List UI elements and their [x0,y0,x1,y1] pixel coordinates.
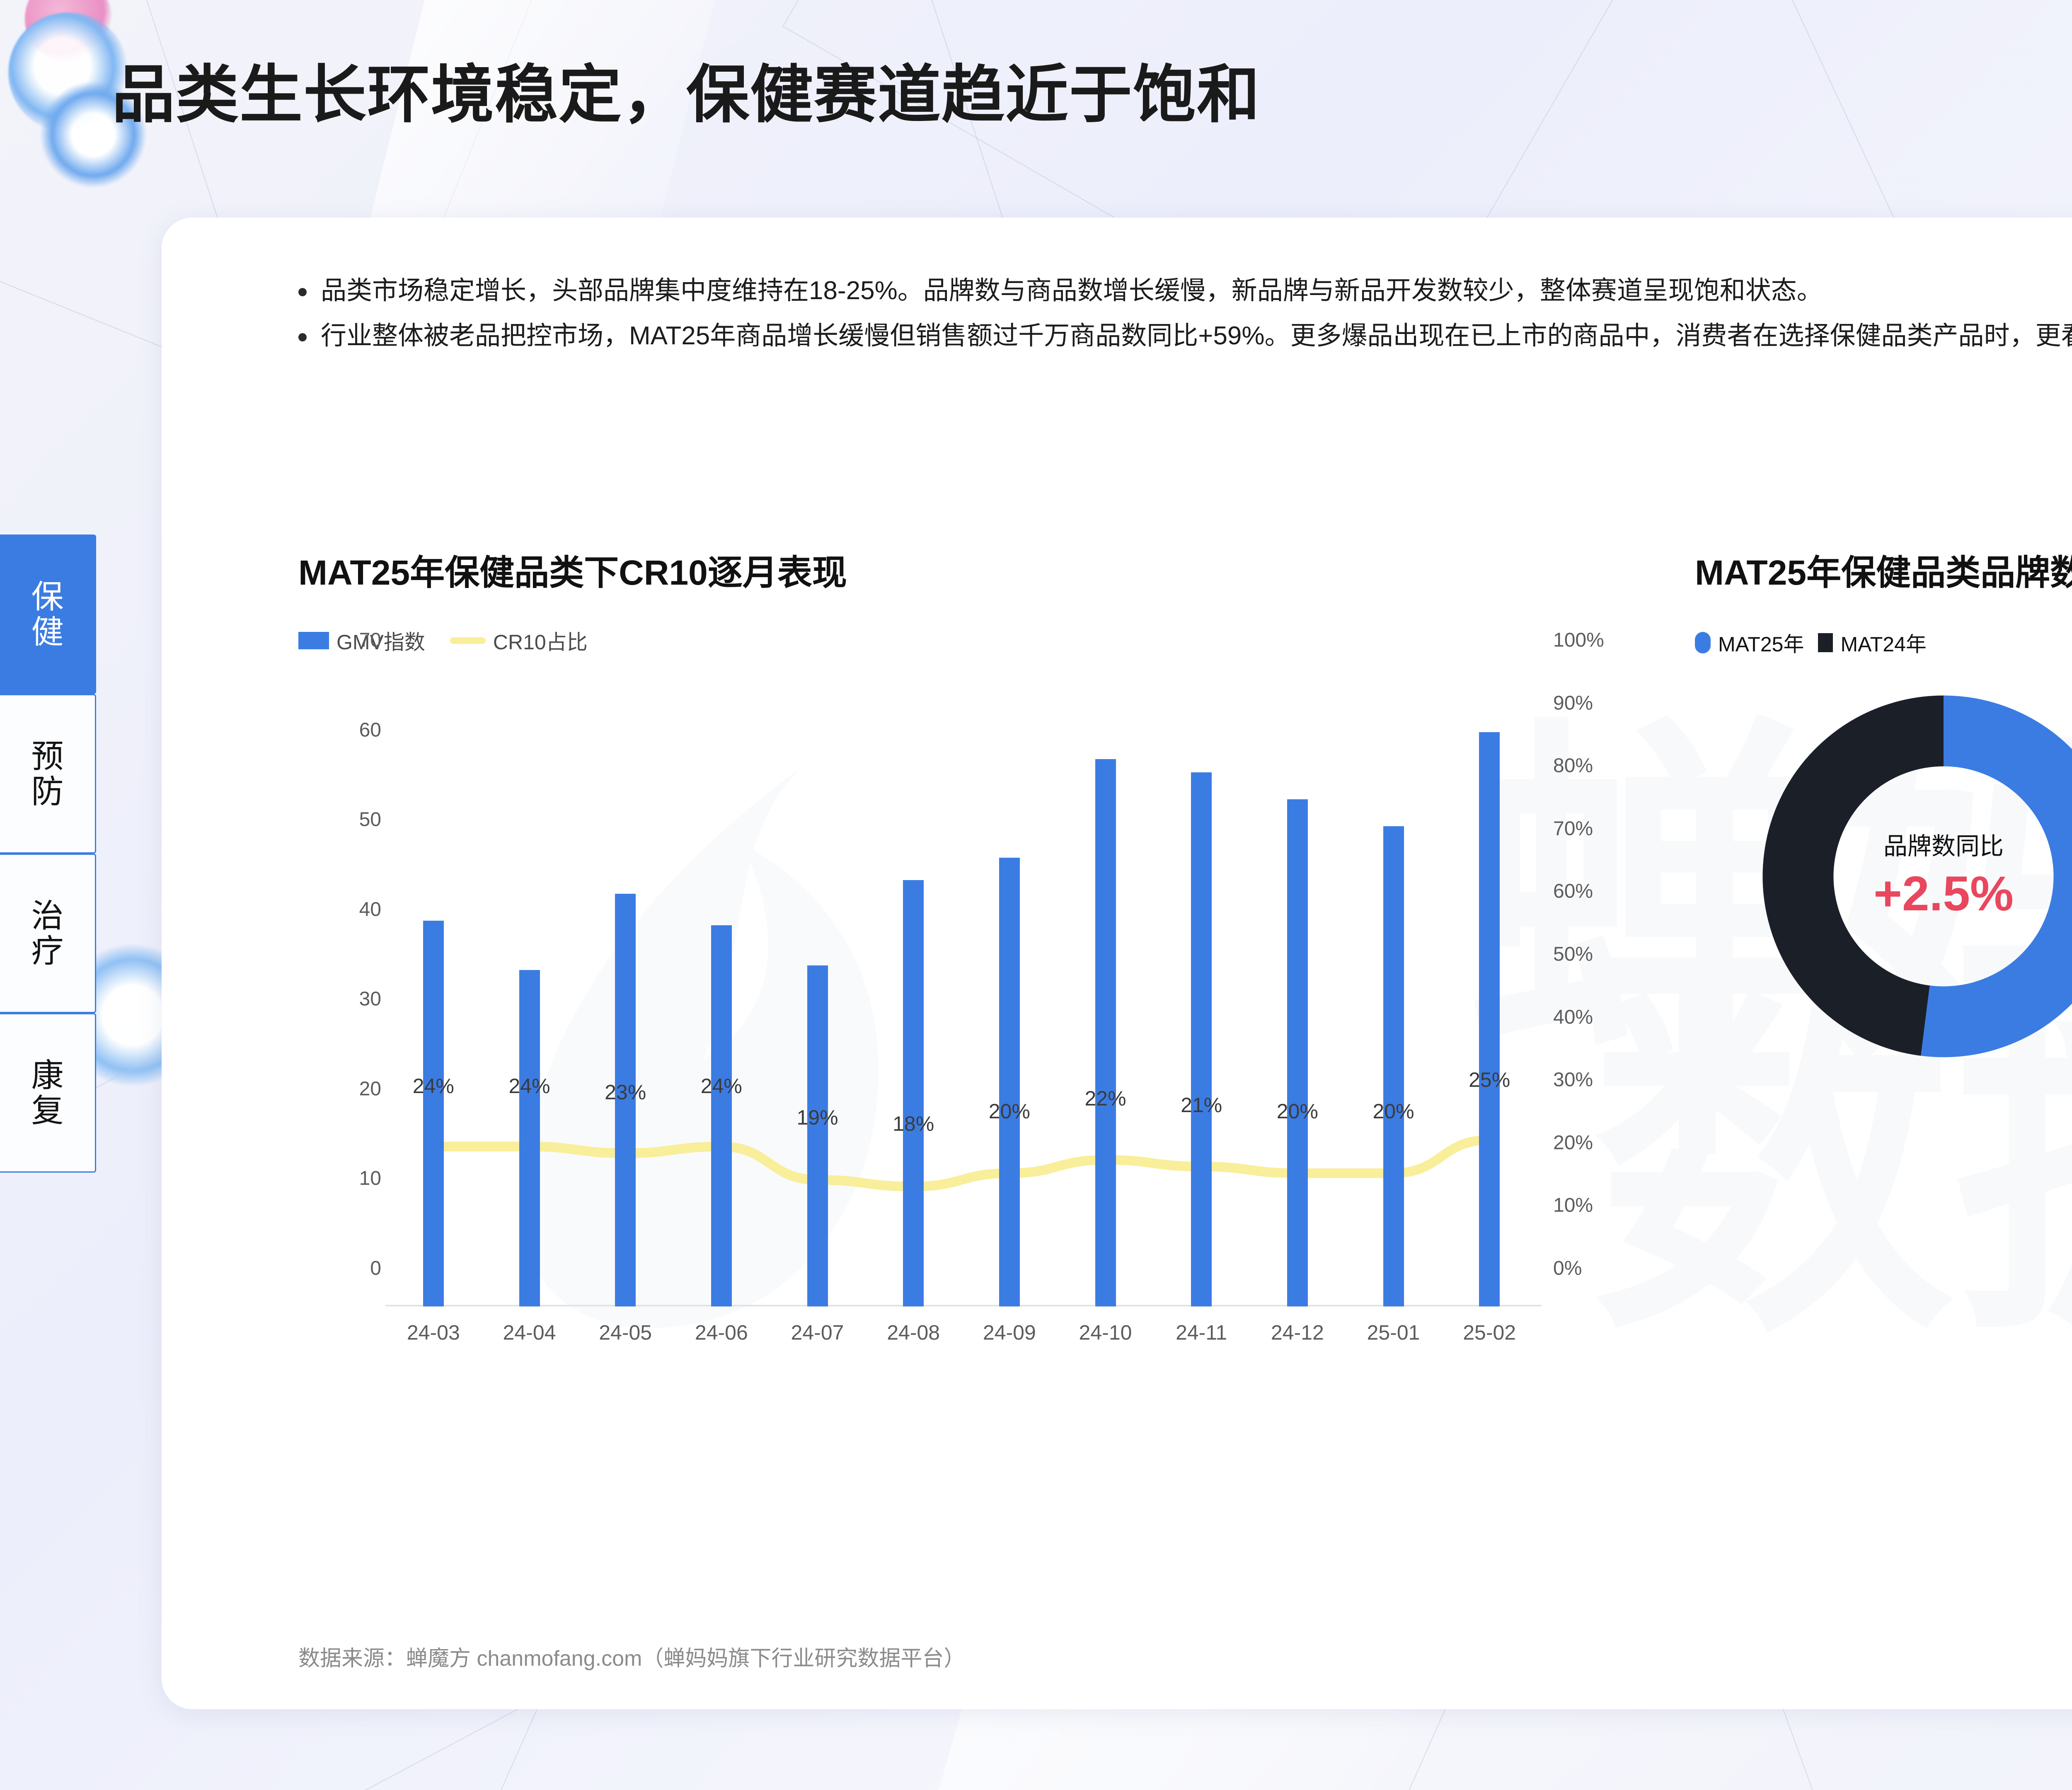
summary-bullets: 品类市场稳定增长，头部品牌集中度维持在18-25%。品牌数与商品数增长缓慢，新品… [298,271,2072,362]
x-axis-tick: 24-07 [791,1321,844,1345]
y2-axis-tick: 100% [1553,629,1604,652]
donut-label: 品牌数同比 [1883,831,2004,862]
y-axis-tick: 30 [359,988,381,1011]
x-axis-tick: 24-04 [503,1321,556,1345]
x-axis-tick: 24-03 [407,1321,460,1345]
left-chart-title: MAT25年保健品类下CR10逐月表现 [298,545,847,595]
x-axis: 24-0324-0424-0524-0624-0724-0824-0924-10… [385,1311,1537,1345]
bar[interactable] [1383,826,1404,1306]
x-axis-tick: 25-01 [1367,1321,1420,1345]
x-axis-tick: 24-09 [983,1321,1036,1345]
cr10-data-label: 20% [989,1099,1030,1123]
bullet-dot-icon [298,288,307,296]
sidebar-item-label: 保健 [27,579,68,649]
y2-axis-tick: 20% [1553,1131,1593,1154]
cr10-line-series [385,640,1537,1306]
cr10-data-label: 19% [796,1105,838,1130]
bar[interactable] [423,921,444,1306]
cr10-data-label: 23% [605,1080,646,1104]
bullet-item: 行业整体被老品把控市场，MAT25年商品增长缓慢但销售额过千万商品数同比+59%… [298,317,2072,355]
cr10-data-label: 20% [1372,1099,1414,1123]
cr10-data-label: 20% [1277,1099,1318,1123]
bullet-dot-icon [298,333,307,341]
bar[interactable] [711,925,732,1306]
bar[interactable] [1191,772,1212,1306]
y2-axis-tick: 10% [1553,1194,1593,1217]
x-axis-tick: 24-10 [1079,1321,1132,1345]
y-axis-tick: 70 [359,629,381,652]
cr10-data-label: 24% [508,1074,550,1098]
x-axis-tick: 24-12 [1271,1321,1324,1345]
donut-value: +2.5% [1874,866,2014,922]
y2-axis-tick: 90% [1553,692,1593,714]
y-axis-tick: 10 [359,1167,381,1190]
cr10-data-label: 24% [701,1074,742,1098]
donut-chart[interactable]: 品牌数同比+2.5% [1757,690,2072,1063]
data-source-note: 数据来源：蝉魔方 chanmofang.com（蝉妈妈旗下行业研究数据平台） [298,1641,965,1672]
content-card: 蝉妈妈 数据 品类市场稳定增长，头部品牌集中度维持在18-25%。品牌数与商品数… [162,218,2072,1709]
x-axis-tick: 24-11 [1176,1321,1227,1345]
bullet-text: 行业整体被老品把控市场，MAT25年商品增长缓慢但销售额过千万商品数同比+59%… [321,317,2072,355]
cr10-line [433,1140,1489,1187]
cr10-data-label: 22% [1084,1086,1126,1110]
x-axis-tick: 24-05 [599,1321,652,1345]
x-axis-tick: 24-08 [887,1321,940,1345]
x-axis-tick: 25-02 [1463,1321,1516,1345]
cr10-data-label: 25% [1469,1068,1510,1092]
sidebar-item-kangfu[interactable]: 康复 [0,1013,96,1173]
y-axis-tick: 0 [370,1257,381,1280]
bar[interactable] [807,965,828,1306]
left-y-axis: 010203040506070 [298,640,381,1306]
right-chart-title: MAT25年保健品类品牌数：商品数对比 [1695,545,2072,595]
bullet-text: 品类市场稳定增长，头部品牌集中度维持在18-25%。品牌数与商品数增长缓慢，新品… [321,271,1823,310]
sidebar-item-yufang[interactable]: 预防 [0,694,96,854]
sidebar-item-baojian[interactable]: 保健 [0,535,96,694]
y-axis-tick: 60 [359,718,381,741]
chart-plot-area: 24%24%23%24%19%18%20%22%21%20%20%25% [385,640,1537,1306]
y-axis-tick: 40 [359,898,381,921]
y2-axis-tick: 70% [1553,817,1593,840]
y-axis-tick: 50 [359,808,381,831]
bar[interactable] [519,970,540,1306]
right-y-axis: 0%10%20%30%40%50%60%70%80%90%100% [1542,640,1637,1306]
y-axis-tick: 20 [359,1077,381,1100]
cr10-data-label: 18% [893,1112,934,1136]
y2-axis-tick: 50% [1553,943,1593,966]
bar[interactable] [903,880,924,1306]
sidebar-item-zhiliao[interactable]: 治疗 [0,854,96,1013]
x-axis-tick: 24-06 [695,1321,748,1345]
page-header: 品类生长环境稳定，保健赛道趋近于饱和 蝉妈妈 × 蝉魔方 [0,0,2072,195]
bar[interactable] [999,858,1020,1306]
sidebar-item-label: 预防 [27,739,68,808]
cr10-data-label: 21% [1181,1093,1222,1117]
sidebar-item-label: 康复 [27,1058,68,1127]
yoy-donut-group: 品牌数同比+2.5%商品数同比+8.1%销售额过千万商品数同比+59% [1695,615,2072,1610]
donut-center-text: 品牌数同比+2.5% [1757,690,2072,1063]
category-sidebar: 保健 预防 治疗 康复 [0,535,96,1173]
y2-axis-tick: 80% [1553,755,1593,777]
cr10-monthly-chart: 010203040506070 0%10%20%30%40%50%60%70%8… [298,640,1637,1345]
y2-axis-tick: 30% [1553,1069,1593,1091]
sidebar-item-label: 治疗 [27,898,68,968]
page-title: 品类生长环境稳定，保健赛道趋近于饱和 [112,44,1261,135]
bullet-item: 品类市场稳定增长，头部品牌集中度维持在18-25%。品牌数与商品数增长缓慢，新品… [298,271,2072,310]
bar[interactable] [1095,759,1116,1306]
bar[interactable] [1479,732,1500,1306]
y2-axis-tick: 0% [1553,1257,1582,1280]
y2-axis-tick: 60% [1553,880,1593,903]
cr10-data-label: 24% [413,1074,454,1098]
bar[interactable] [1287,799,1308,1306]
y2-axis-tick: 40% [1553,1006,1593,1028]
